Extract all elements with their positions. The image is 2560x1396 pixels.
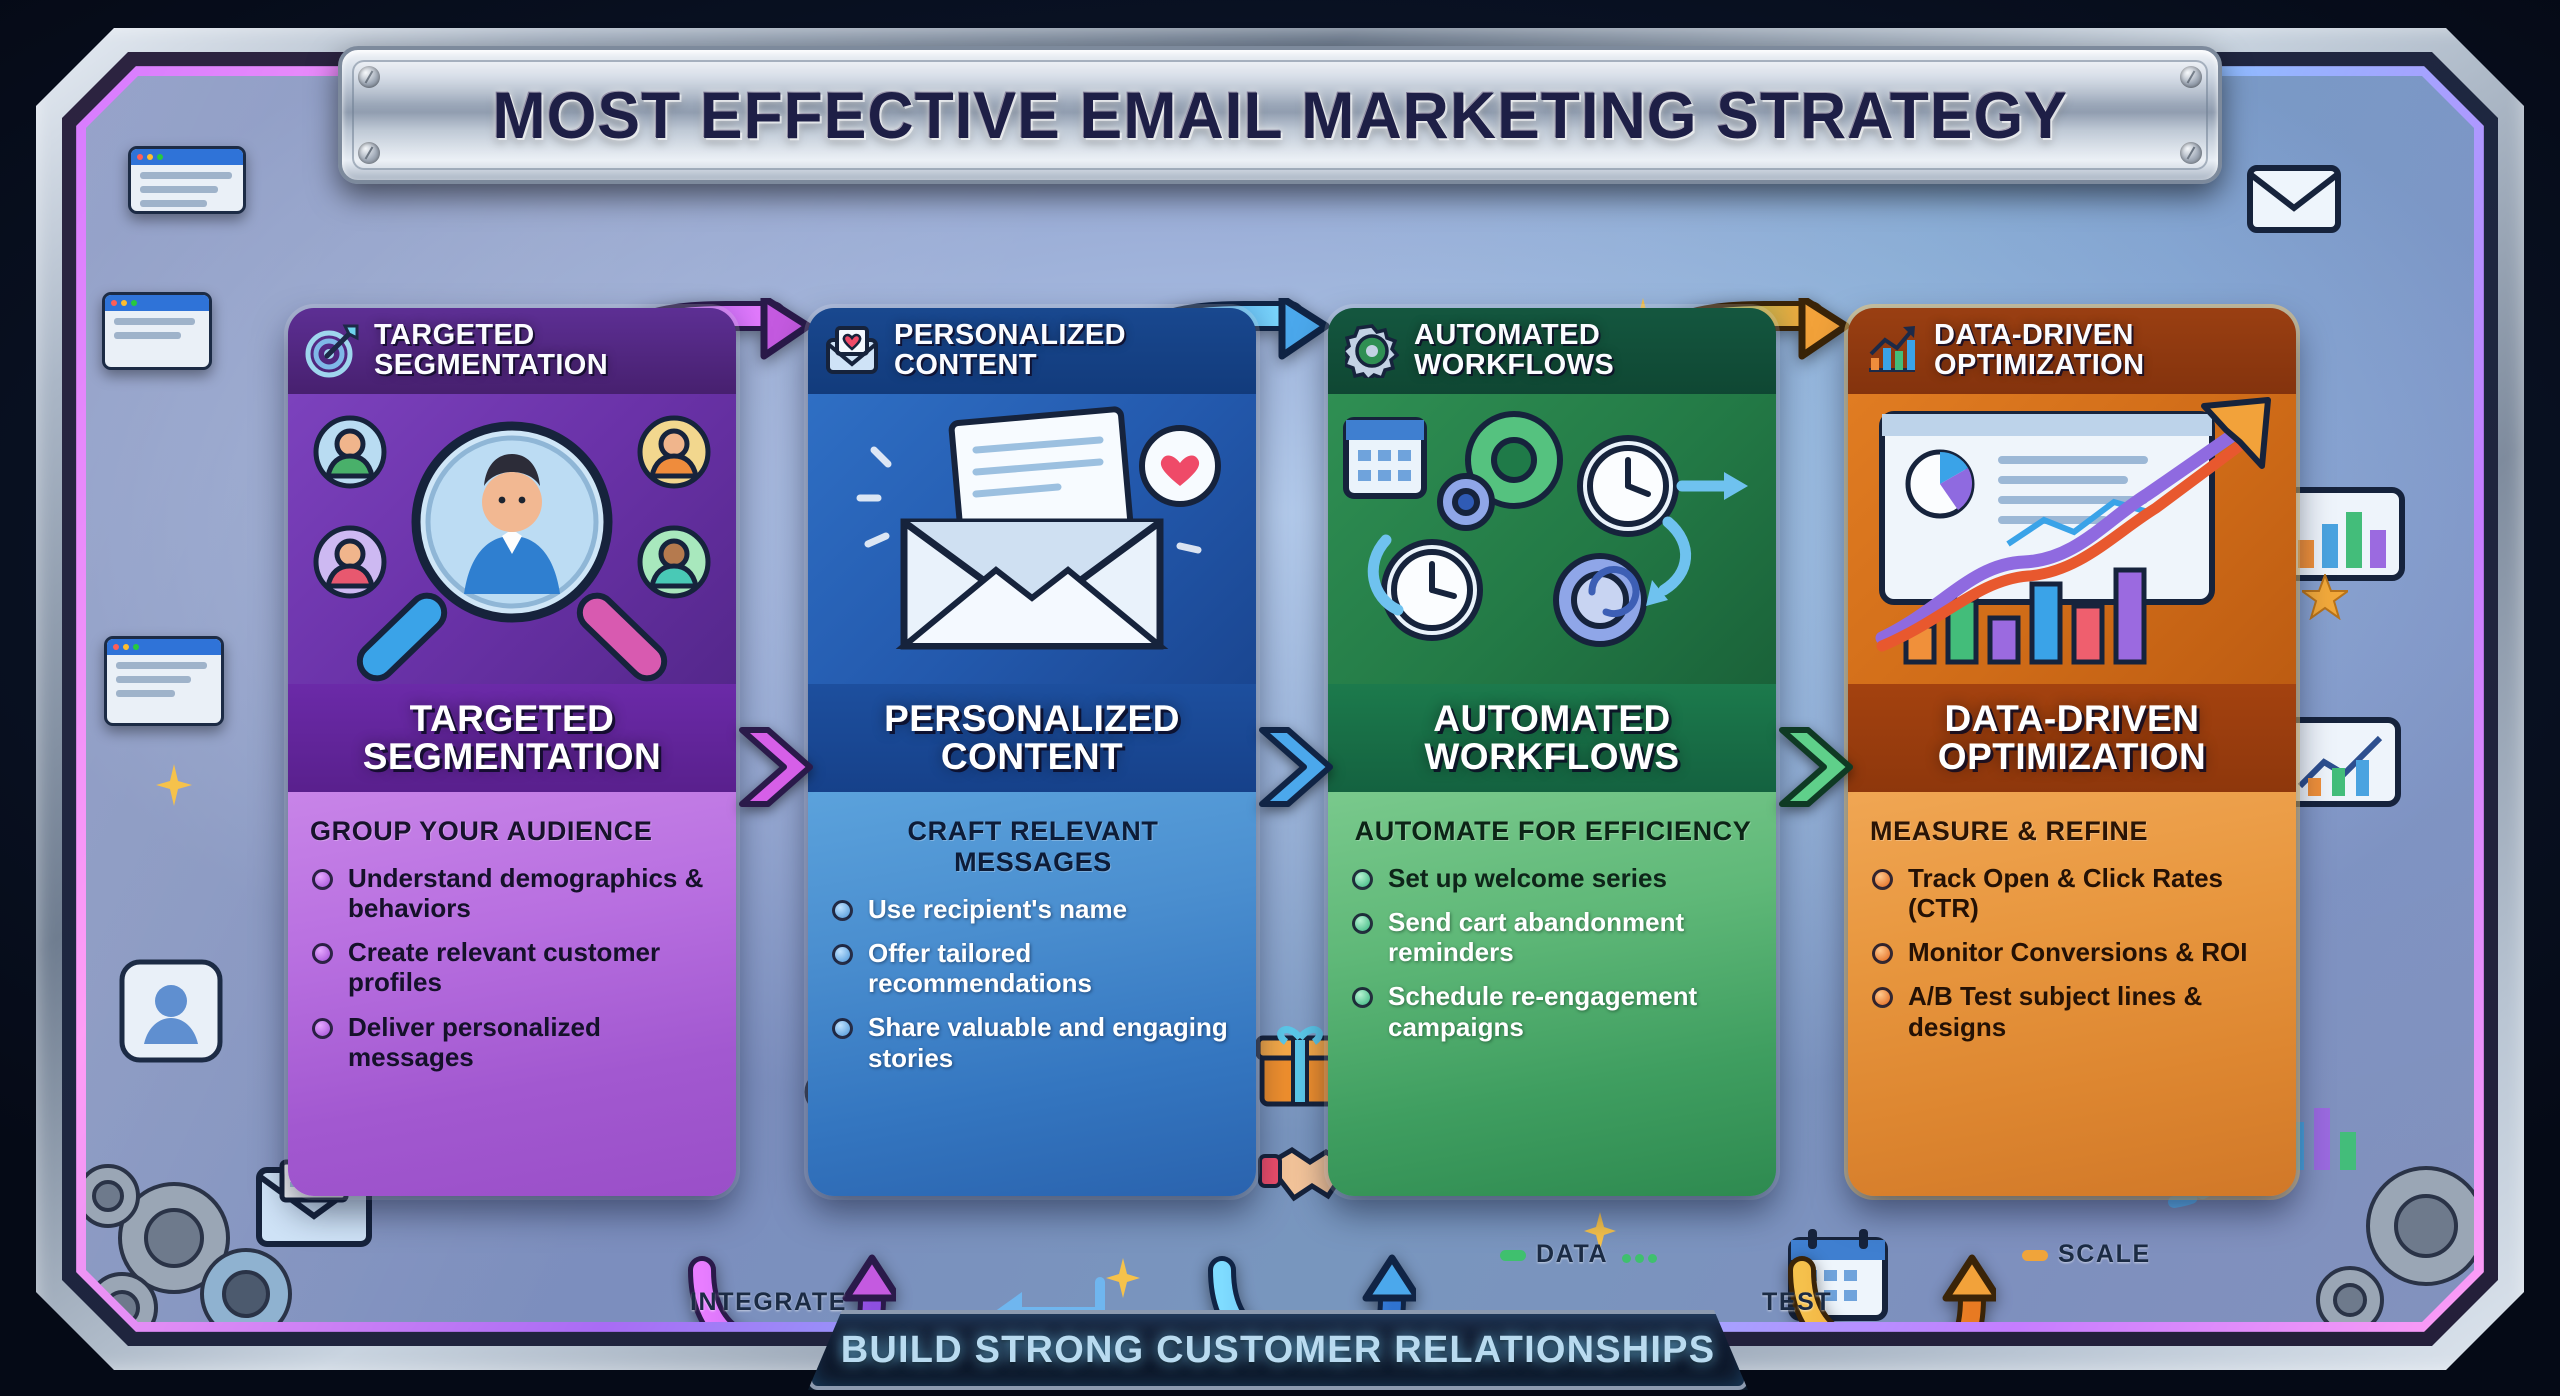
bottom-banner: BUILD STRONG CUSTOMER RELATIONSHIPS (808, 1310, 1748, 1390)
list-item: Send cart abandonment reminders (1350, 907, 1756, 967)
card-cap: AUTOMATED WORKFLOWS (1328, 308, 1776, 394)
chip-icon (1500, 1250, 1526, 1261)
list-item: Offer tailored recommendations (830, 938, 1236, 998)
target-icon (304, 323, 360, 379)
list-item: A/B Test subject lines & designs (1870, 981, 2276, 1041)
card-cap-title: AUTOMATED WORKFLOWS (1414, 321, 1614, 380)
card-bullet-list: Set up welcome series Send cart abandonm… (1350, 863, 1756, 1042)
card-subhead: CRAFT RELEVANT MESSAGES (830, 816, 1236, 878)
connector-label-test: TEST (1762, 1288, 1832, 1317)
open-envelope-letter-icon (808, 394, 1256, 684)
card-cap: TARGETED SEGMENTATION (288, 308, 736, 394)
card-illustration-automation (1328, 394, 1776, 684)
card-subhead: MEASURE & REFINE (1870, 816, 2276, 847)
card-illustration-analytics (1848, 394, 2296, 684)
card-illustration-segmentation (288, 394, 736, 684)
bullet-dot-icon (1352, 869, 1373, 890)
connector-label-integrate: INTEGRATE (690, 1288, 847, 1317)
magnifier-audience-icon (288, 394, 736, 684)
bullet-dot-icon (1872, 987, 1893, 1008)
list-item: Schedule re-engagement campaigns (1350, 981, 1756, 1041)
card-subhead: GROUP YOUR AUDIENCE (310, 816, 716, 847)
list-item: Understand demographics & behaviors (310, 863, 716, 923)
bullet-dot-icon (312, 943, 333, 964)
card-data-driven-optimization[interactable]: DATA-DRIVEN OPTIMIZATION (1848, 308, 2296, 1196)
card-band-title: DATA-DRIVEN OPTIMIZATION (1938, 700, 2206, 775)
envelope-heart-icon (824, 323, 880, 379)
list-item: Deliver personalized messages (310, 1012, 716, 1072)
card-band: TARGETED SEGMENTATION (288, 684, 736, 792)
card-band-title: PERSONALIZED CONTENT (884, 700, 1180, 775)
card-cap-title: TARGETED SEGMENTATION (374, 321, 608, 380)
list-item: Track Open & Click Rates (CTR) (1870, 863, 2276, 923)
title-plate-inner: MOST EFFECTIVE EMAIL MARKETING STRATEGY (352, 60, 2208, 170)
card-bullet-list: Track Open & Click Rates (CTR) Monitor C… (1870, 863, 2276, 1042)
list-item: Set up welcome series (1350, 863, 1756, 893)
gear-icon (1344, 323, 1400, 379)
card-illustration-personalization (808, 394, 1256, 684)
card-personalized-content[interactable]: PERSONALIZED CONTENT (808, 308, 1256, 1196)
bullet-dot-icon (832, 900, 853, 921)
card-band: PERSONALIZED CONTENT (808, 684, 1256, 792)
card-automated-workflows[interactable]: AUTOMATED WORKFLOWS (1328, 308, 1776, 1196)
flow-chevron-1 (738, 724, 814, 810)
chip-icon (2022, 1250, 2048, 1261)
dashboard-growth-chart-icon (1848, 394, 2296, 684)
card-cap-title: DATA-DRIVEN OPTIMIZATION (1934, 321, 2144, 380)
strategy-cards: TARGETED SEGMENTATION (0, 0, 2560, 1396)
bullet-dot-icon (1872, 943, 1893, 964)
bullet-dot-icon (832, 1018, 853, 1039)
card-band: DATA-DRIVEN OPTIMIZATION (1848, 684, 2296, 792)
card-body: AUTOMATE FOR EFFICIENCY Set up welcome s… (1328, 792, 1776, 1196)
card-band-title: TARGETED SEGMENTATION (363, 700, 662, 775)
bullet-dot-icon (1872, 869, 1893, 890)
bullet-dot-icon (1352, 913, 1373, 934)
gears-clocks-calendar-icon (1328, 394, 1776, 684)
card-cap-title: PERSONALIZED CONTENT (894, 321, 1126, 380)
bar-chart-arrow-icon (1864, 323, 1920, 379)
card-targeted-segmentation[interactable]: TARGETED SEGMENTATION (288, 308, 736, 1196)
banner-text: BUILD STRONG CUSTOMER RELATIONSHIPS (841, 1329, 1716, 1372)
flow-chevron-2 (1258, 724, 1334, 810)
bullet-dot-icon (832, 944, 853, 965)
list-item: Create relevant customer profiles (310, 937, 716, 997)
title-plate: MOST EFFECTIVE EMAIL MARKETING STRATEGY (338, 46, 2222, 184)
card-bullet-list: Use recipient's name Offer tailored reco… (830, 894, 1236, 1073)
flow-chevron-3 (1778, 724, 1854, 810)
card-bullet-list: Understand demographics & behaviors Crea… (310, 863, 716, 1072)
bullet-dot-icon (1352, 987, 1373, 1008)
card-cap: PERSONALIZED CONTENT (808, 308, 1256, 394)
connector-label-data: DATA (1500, 1240, 1657, 1270)
card-body: CRAFT RELEVANT MESSAGES Use recipient's … (808, 792, 1256, 1196)
dots-icon (1618, 1241, 1657, 1270)
bullet-dot-icon (312, 869, 333, 890)
connector-label-scale: SCALE (2022, 1240, 2151, 1269)
list-item: Use recipient's name (830, 894, 1236, 924)
bullet-dot-icon (312, 1018, 333, 1039)
page-title: MOST EFFECTIVE EMAIL MARKETING STRATEGY (492, 77, 2068, 153)
list-item: Monitor Conversions & ROI (1870, 937, 2276, 967)
card-band: AUTOMATED WORKFLOWS (1328, 684, 1776, 792)
card-body: GROUP YOUR AUDIENCE Understand demograph… (288, 792, 736, 1196)
card-subhead: AUTOMATE FOR EFFICIENCY (1350, 816, 1756, 847)
list-item: Share valuable and engaging stories (830, 1012, 1236, 1072)
card-band-title: AUTOMATED WORKFLOWS (1424, 700, 1679, 775)
card-cap: DATA-DRIVEN OPTIMIZATION (1848, 308, 2296, 394)
card-body: MEASURE & REFINE Track Open & Click Rate… (1848, 792, 2296, 1196)
